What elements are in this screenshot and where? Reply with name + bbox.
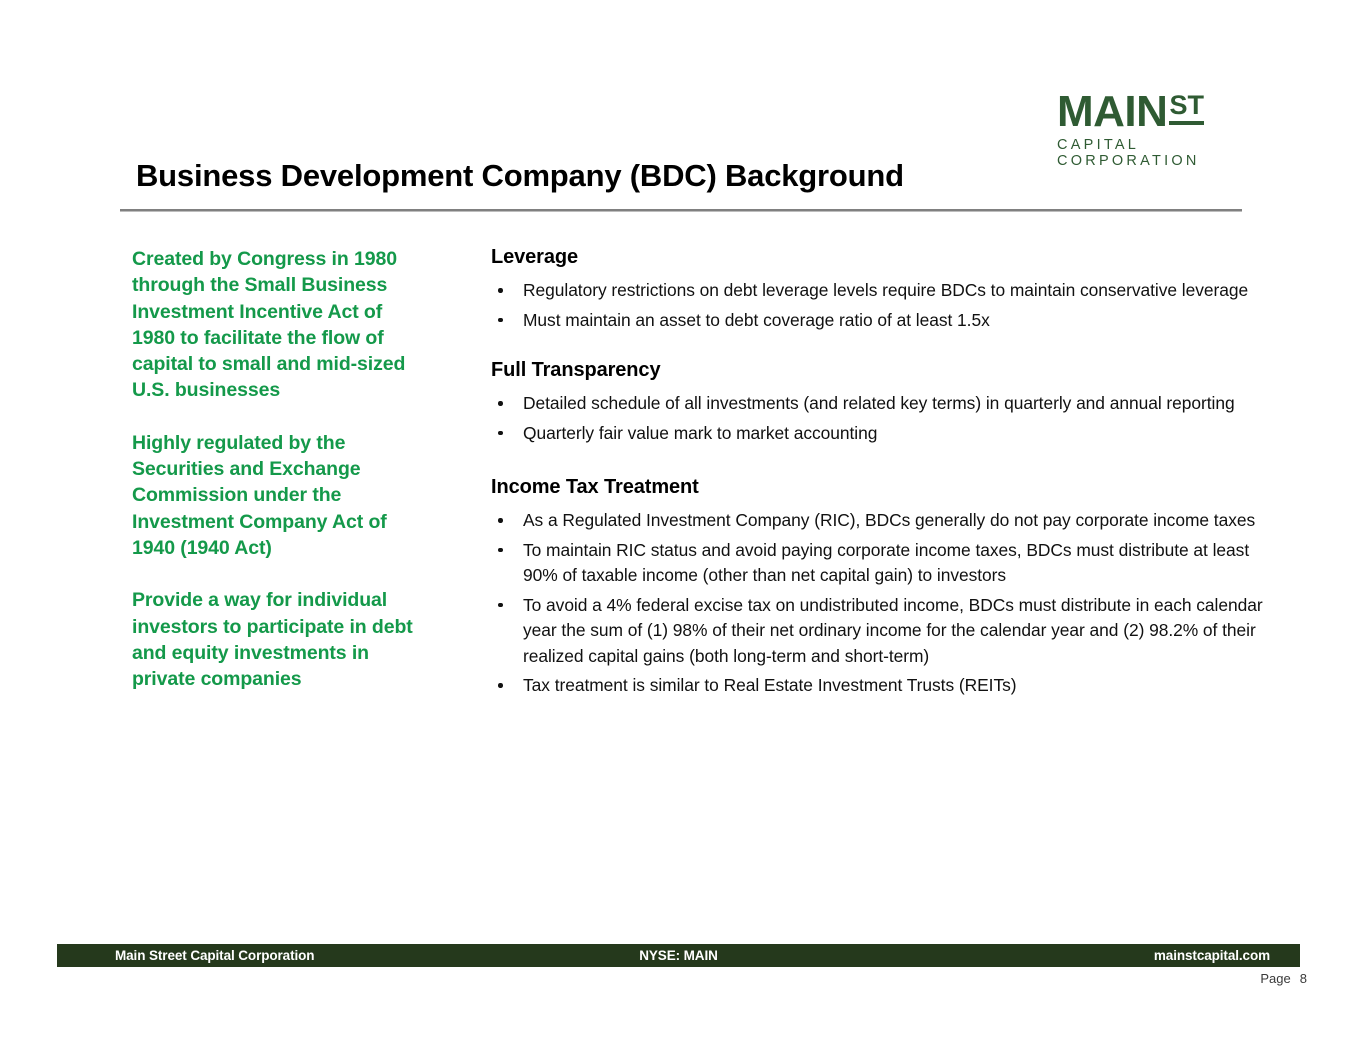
- list-item: To maintain RIC status and avoid paying …: [491, 538, 1281, 589]
- logo-main-text: MAIN: [1057, 90, 1167, 134]
- list-item-text: Tax treatment is similar to Real Estate …: [523, 675, 1017, 695]
- list-item-text: Must maintain an asset to debt coverage …: [523, 310, 990, 330]
- bullet-dot-icon: [498, 518, 503, 523]
- highlight-paragraph: Provide a way for individual investors t…: [132, 587, 422, 692]
- bullet-dot-icon: [498, 603, 503, 608]
- section-heading: Leverage: [491, 246, 1281, 269]
- section-heading: Full Transparency: [491, 359, 1281, 382]
- list-item: Must maintain an asset to debt coverage …: [491, 308, 1281, 334]
- company-logo: MAIN ST CAPITAL CORPORATION: [1057, 90, 1247, 169]
- bullet-dot-icon: [498, 431, 503, 436]
- highlight-paragraph: Highly regulated by the Securities and E…: [132, 430, 422, 561]
- left-highlight-column: Created by Congress in 1980 through the …: [132, 246, 422, 692]
- list-item-text: To avoid a 4% federal excise tax on undi…: [523, 595, 1263, 666]
- bullet-dot-icon: [498, 548, 503, 553]
- right-detail-column: Leverage Regulatory restrictions on debt…: [491, 246, 1281, 699]
- list-item: To avoid a 4% federal excise tax on undi…: [491, 593, 1281, 670]
- footer-bar: Main Street Capital Corporation NYSE: MA…: [57, 944, 1300, 967]
- footer-website: mainstcapital.com: [1154, 948, 1270, 963]
- list-item-text: Quarterly fair value mark to market acco…: [523, 423, 877, 443]
- logo-wordmark: MAIN ST: [1057, 90, 1247, 134]
- list-item-text: Detailed schedule of all investments (an…: [523, 393, 1235, 413]
- list-item: As a Regulated Investment Company (RIC),…: [491, 508, 1281, 534]
- bullet-list: As a Regulated Investment Company (RIC),…: [491, 508, 1281, 699]
- section-full-transparency: Full Transparency Detailed schedule of a…: [491, 359, 1281, 446]
- list-item: Regulatory restrictions on debt leverage…: [491, 278, 1281, 304]
- section-income-tax-treatment: Income Tax Treatment As a Regulated Inve…: [491, 476, 1281, 699]
- footer-ticker: NYSE: MAIN: [57, 948, 1300, 963]
- bullet-dot-icon: [498, 318, 503, 323]
- list-item-text: To maintain RIC status and avoid paying …: [523, 540, 1249, 586]
- list-item: Detailed schedule of all investments (an…: [491, 391, 1281, 417]
- page-number-value: 8: [1300, 971, 1307, 986]
- page-number-label: Page: [1260, 971, 1290, 986]
- list-item: Tax treatment is similar to Real Estate …: [491, 673, 1281, 699]
- bullet-dot-icon: [498, 288, 503, 293]
- list-item: Quarterly fair value mark to market acco…: [491, 421, 1281, 447]
- page-title: Business Development Company (BDC) Backg…: [136, 158, 904, 194]
- bullet-dot-icon: [498, 401, 503, 406]
- list-item-text: As a Regulated Investment Company (RIC),…: [523, 510, 1255, 530]
- page-number: Page8: [1260, 971, 1307, 986]
- section-heading: Income Tax Treatment: [491, 476, 1281, 499]
- slide-canvas: MAIN ST CAPITAL CORPORATION Business Dev…: [0, 0, 1365, 1055]
- section-leverage: Leverage Regulatory restrictions on debt…: [491, 246, 1281, 333]
- logo-subtitle: CAPITAL CORPORATION: [1057, 137, 1247, 169]
- logo-st-text: ST: [1169, 92, 1204, 125]
- bullet-dot-icon: [498, 683, 503, 688]
- bullet-list: Regulatory restrictions on debt leverage…: [491, 278, 1281, 333]
- highlight-paragraph: Created by Congress in 1980 through the …: [132, 246, 422, 404]
- title-divider: [120, 209, 1242, 212]
- bullet-list: Detailed schedule of all investments (an…: [491, 391, 1281, 446]
- list-item-text: Regulatory restrictions on debt leverage…: [523, 280, 1248, 300]
